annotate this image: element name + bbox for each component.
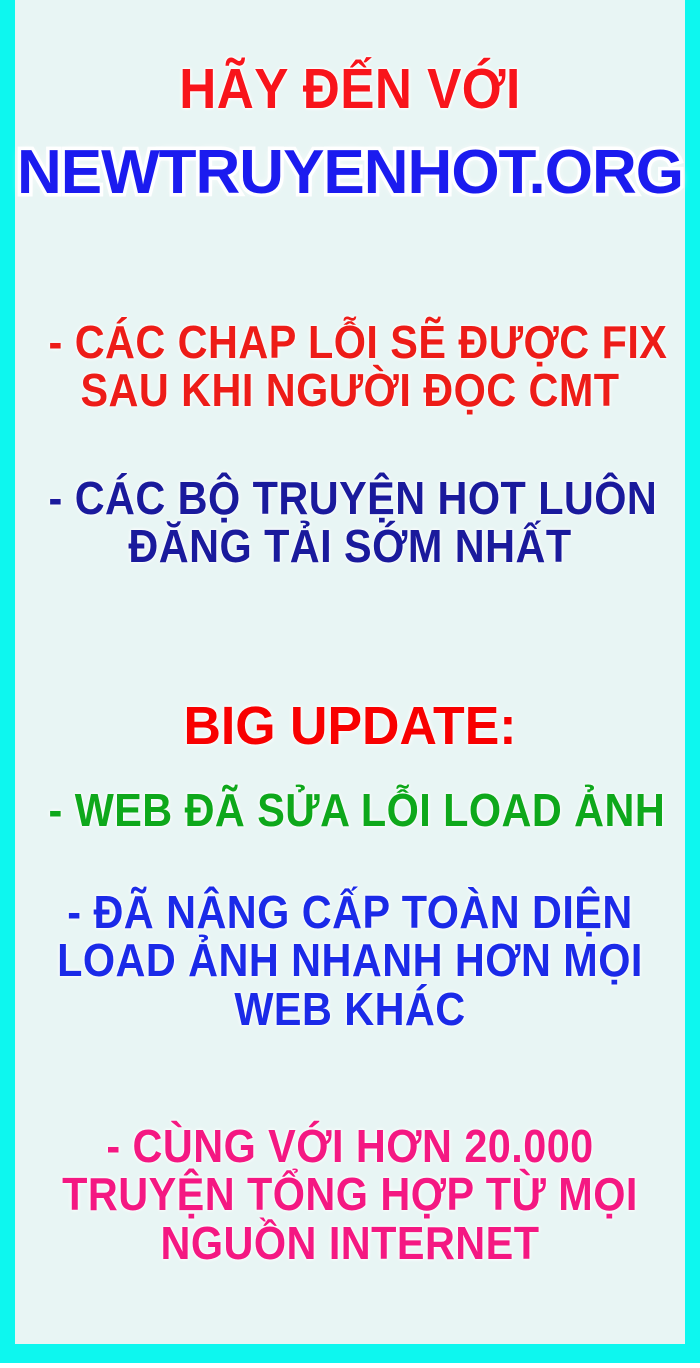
update-full-upgrade: - ĐÃ NÂNG CẤP TOÀN DIỆN LOAD ẢNH NHANH H… bbox=[15, 888, 685, 1033]
poster-content: HÃY ĐẾN VỚI NEWTRUYENHOT.ORG - CÁC CHAP … bbox=[15, 0, 685, 1344]
headline-site-name[interactable]: NEWTRUYENHOT.ORG bbox=[15, 140, 685, 205]
update-content-count-line-1: - CÙNG VỚI HƠN 20.000 bbox=[49, 1122, 652, 1170]
notice-fix-chapters: - CÁC CHAP LỖI SẼ ĐƯỢC FIX SAU KHI NGƯỜI… bbox=[15, 318, 685, 415]
update-full-upgrade-line-2: LOAD ẢNH NHANH HƠN MỌI bbox=[49, 936, 652, 984]
big-update-heading: BIG UPDATE: bbox=[28, 698, 671, 755]
headline-invite: HÃY ĐẾN VỚI bbox=[49, 60, 652, 120]
update-full-upgrade-line-3: WEB KHÁC bbox=[49, 985, 652, 1033]
edge-band-right bbox=[685, 0, 700, 1344]
notice-hot-series-line-2: ĐĂNG TẢI SỚM NHẤT bbox=[49, 522, 652, 570]
update-image-load-fix-line-1: - WEB ĐÃ SỬA LỖI LOAD ẢNH bbox=[49, 786, 652, 834]
notice-fix-chapters-line-2: SAU KHI NGƯỜI ĐỌC CMT bbox=[49, 366, 652, 414]
update-content-count-line-2: TRUYỆN TỔNG HỢP TỪ MỌI bbox=[49, 1170, 652, 1218]
update-content-count-line-3: NGUỒN INTERNET bbox=[49, 1219, 652, 1267]
update-content-count: - CÙNG VỚI HƠN 20.000 TRUYỆN TỔNG HỢP TỪ… bbox=[15, 1122, 685, 1267]
notice-fix-chapters-line-1: - CÁC CHAP LỖI SẼ ĐƯỢC FIX bbox=[49, 318, 652, 366]
edge-band-bottom bbox=[0, 1344, 700, 1363]
update-image-load-fix: - WEB ĐÃ SỬA LỖI LOAD ẢNH bbox=[15, 786, 685, 834]
notice-hot-series: - CÁC BỘ TRUYỆN HOT LUÔN ĐĂNG TẢI SỚM NH… bbox=[15, 474, 685, 571]
update-full-upgrade-line-1: - ĐÃ NÂNG CẤP TOÀN DIỆN bbox=[49, 888, 652, 936]
promo-poster: HÃY ĐẾN VỚI NEWTRUYENHOT.ORG - CÁC CHAP … bbox=[0, 0, 700, 1368]
edge-band-left bbox=[0, 0, 15, 1344]
notice-hot-series-line-1: - CÁC BỘ TRUYỆN HOT LUÔN bbox=[49, 474, 652, 522]
